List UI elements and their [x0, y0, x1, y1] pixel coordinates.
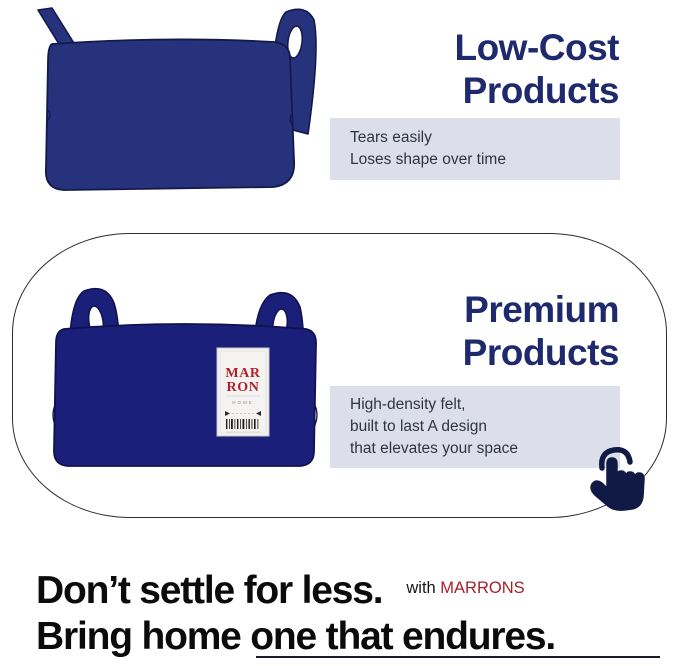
tap-hand-icon[interactable]: [588, 446, 652, 512]
tagline-row-1: Don’t settle for less. with MARRONS: [36, 568, 656, 614]
premium-title-line-1: Premium: [309, 288, 619, 331]
premium-basket-image: [34, 275, 334, 490]
premium-desc-line-3: that elevates your space: [350, 438, 620, 460]
hang-tag-brand-line-2: RON: [227, 380, 260, 395]
brand-note-with: with: [406, 579, 435, 597]
low-cost-desc-line-1: Tears easily: [350, 127, 620, 149]
low-cost-basket-image: [18, 2, 330, 202]
hang-tag-graphic: MAR RON HOME: [216, 347, 270, 437]
premium-desc-line-2: built to last A design: [350, 416, 620, 438]
brand-note-name: MARRONS: [440, 579, 524, 597]
hang-tag-sub-label: HOME: [232, 400, 254, 405]
infographic-stage: Low-Cost Products Tears easily Loses sha…: [0, 0, 679, 666]
product-hang-tag: MAR RON HOME: [216, 347, 270, 437]
low-cost-description-box: Tears easily Loses shape over time: [330, 118, 620, 180]
premium-description-box: High-density felt, built to last A desig…: [330, 386, 620, 468]
premium-title-line-2: Products: [309, 331, 619, 374]
low-cost-section-title: Low-Cost Products: [319, 26, 619, 112]
brand-note: with MARRONS: [406, 579, 524, 598]
premium-desc-line-1: High-density felt,: [350, 394, 620, 416]
tagline-line-1: Don’t settle for less.: [36, 568, 382, 614]
low-cost-title-line-1: Low-Cost: [319, 26, 619, 69]
tagline-line-2: Bring home one that endures.: [36, 614, 656, 660]
hang-tag-brand-line-1: MAR: [225, 366, 261, 381]
low-cost-title-line-2: Products: [319, 69, 619, 112]
tagline-underline: [256, 656, 660, 658]
premium-section-title: Premium Products: [309, 288, 619, 374]
bottom-tagline: Don’t settle for less. with MARRONS Brin…: [36, 568, 656, 660]
low-cost-desc-line-2: Loses shape over time: [350, 149, 620, 171]
